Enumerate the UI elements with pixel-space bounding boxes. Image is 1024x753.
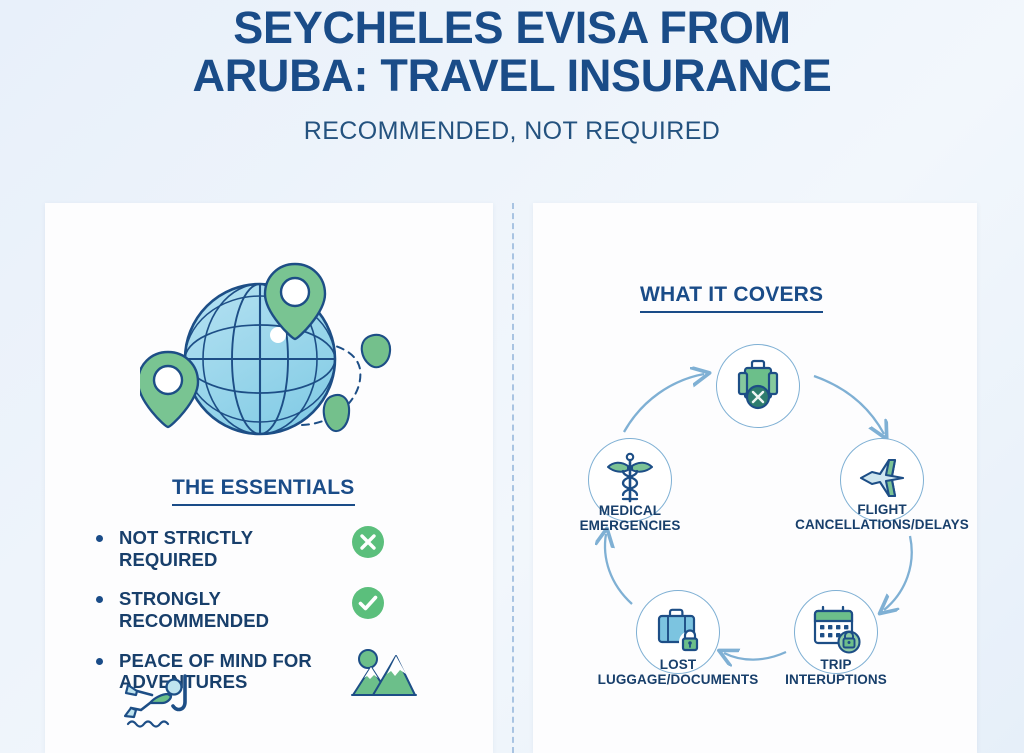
globe-with-location-pins-illustration: [140, 247, 410, 452]
snorkeler-icon: [124, 672, 204, 732]
list-item: STRONGLY RECOMMENDED: [96, 588, 456, 631]
bullet-dot: [96, 596, 103, 603]
briefcase-lock-icon: [651, 603, 705, 662]
mountains-icon: [351, 648, 417, 705]
list-item: NOT STRICTLY REQUIRED: [96, 527, 456, 570]
calendar-lock-icon: [809, 603, 863, 662]
essentials-heading: THE ESSENTIALS: [172, 476, 355, 506]
covers-heading: WHAT IT COVERS: [640, 283, 823, 313]
caduceus-icon: [605, 451, 655, 510]
bullet-label: STRONGLY RECOMMENDED: [119, 588, 347, 631]
baggage-loss-icon: [730, 356, 786, 417]
cycle-node-label-medical-emergencies: MEDICAL EMERGENCIES: [535, 503, 725, 534]
coverage-cycle-diagram: FLIGHT CANCELLATIONS/DELAYS: [558, 340, 958, 720]
bullet-label: NOT STRICTLY REQUIRED: [119, 527, 347, 570]
map-pin-icon-left: [140, 352, 198, 427]
arrow-flight-to-trip: [884, 536, 912, 610]
bullet-dot: [96, 535, 103, 542]
arrow-medical-to-baggage: [624, 374, 704, 432]
panel-divider: [512, 203, 514, 753]
page-title-line-1: SEYCHELES EVISA FROM: [233, 2, 790, 53]
page-subtitle: RECOMMENDED, NOT REQUIRED: [0, 117, 1024, 146]
airplane-icon: [856, 452, 908, 509]
bullet-dot: [96, 658, 103, 665]
green-circle-x-icon: [351, 525, 385, 564]
cycle-node-label-lost-luggage: LOST LUGGAGE/DOCUMENTS: [583, 657, 773, 688]
page-header: SEYCHELES EVISA FROM ARUBA: TRAVEL INSUR…: [0, 0, 1024, 146]
cycle-node-baggage-loss[interactable]: [716, 344, 800, 428]
arrow-lost-luggage-to-medical: [605, 534, 632, 604]
page-title: SEYCHELES EVISA FROM ARUBA: TRAVEL INSUR…: [0, 4, 1024, 99]
island-shape-lower: [324, 395, 349, 431]
cycle-node-label-flight: FLIGHT CANCELLATIONS/DELAYS: [787, 502, 977, 533]
green-circle-check-icon: [351, 586, 385, 625]
island-shape-upper: [362, 335, 390, 367]
arrow-baggage-to-flight: [814, 376, 884, 434]
page-title-line-2: ARUBA: TRAVEL INSURANCE: [193, 50, 832, 101]
